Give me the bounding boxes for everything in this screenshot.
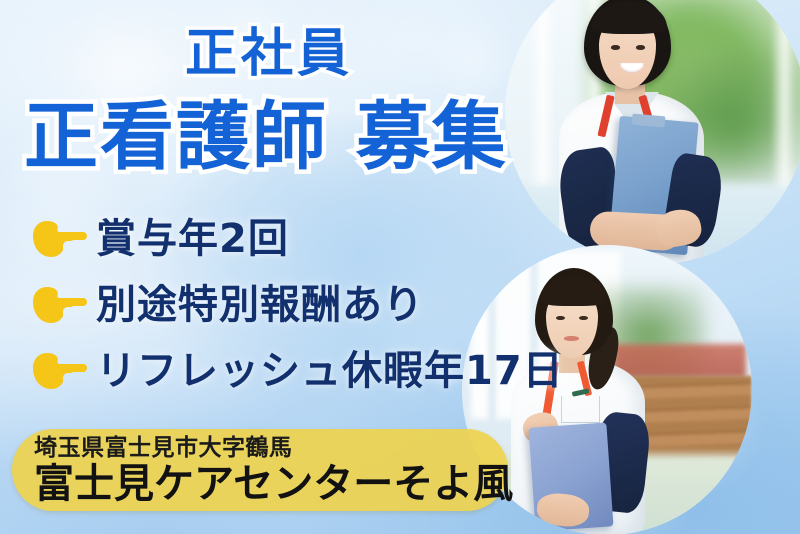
employment-type-headline: 正社員 [185,28,353,80]
photo1-eye [636,45,645,50]
photo2-brick-wall [613,344,746,379]
pointing-right-hand-icon [30,282,88,328]
benefit-label: リフレッシュ休暇年17日 [96,351,564,391]
recruitment-poster: 正社員 正看護師 募集 賞与年2回 別途特別報酬あり リフレッシュ休暇年17日 [0,0,800,534]
benefit-item: リフレッシュ休暇年17日 [30,340,570,402]
facility-name: 富士見ケアセンターそよ風 [34,462,508,507]
facility-address: 埼玉県富士見市大字鶴馬 [34,436,508,461]
job-title-headline: 正看護師 募集 [24,100,508,174]
benefit-item: 別途特別報酬あり [30,274,570,336]
benefit-label: 賞与年2回 [96,219,289,259]
pointing-right-hand-icon [30,348,88,394]
facility-banner-text: 埼玉県富士見市大字鶴馬 富士見ケアセンターそよ風 [12,429,508,511]
photo1-clipboard-clip [631,113,665,127]
photo1-eye [611,45,620,50]
benefit-label: 別途特別報酬あり [96,285,424,325]
pointing-right-hand-icon [30,216,88,262]
benefit-item: 賞与年2回 [30,208,570,270]
benefits-list: 賞与年2回 別途特別報酬あり リフレッシュ休暇年17日 [30,208,570,406]
